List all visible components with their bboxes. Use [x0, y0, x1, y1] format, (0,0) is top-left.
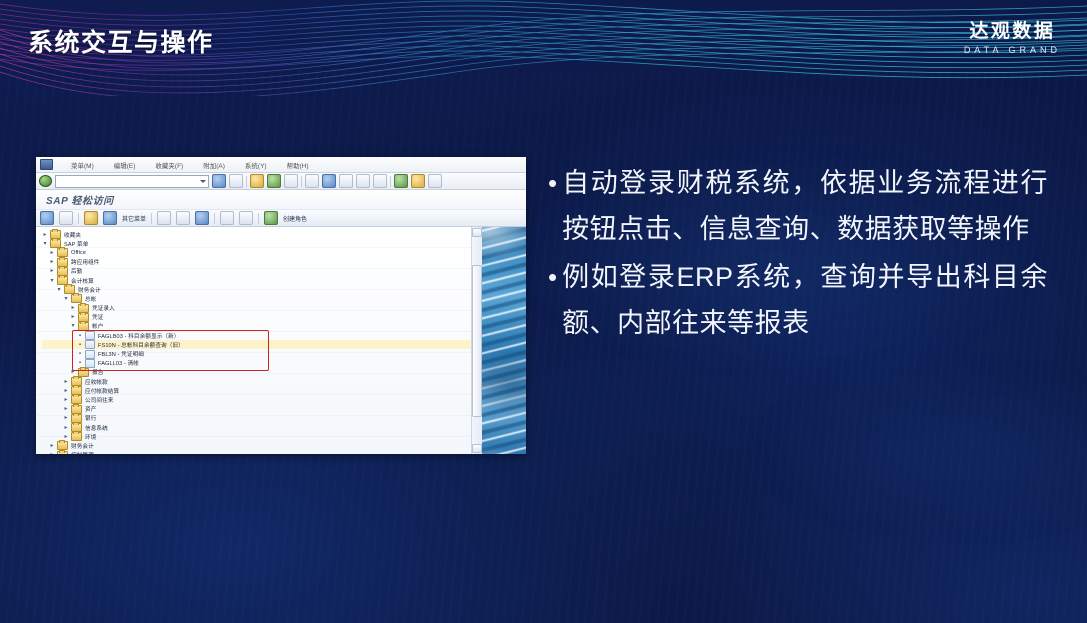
tree-node-label: 财务会计 — [71, 442, 94, 450]
sap-create-role-label[interactable]: 其它菜单 — [122, 214, 146, 223]
logo-english-name: DATA GRAND — [964, 46, 1061, 55]
tree-node-label: 总帐 — [85, 295, 96, 303]
sap-assign-user-icon[interactable] — [157, 211, 171, 225]
apptool-separator — [78, 213, 79, 224]
desktop-wallpaper-strip — [482, 227, 526, 454]
sap-other-menu-icon[interactable] — [264, 211, 278, 225]
sap-cancel-icon[interactable] — [250, 174, 264, 188]
sap-find-icon[interactable] — [305, 174, 319, 188]
expander-closed-icon[interactable]: ▸ — [70, 314, 76, 320]
logo-chinese-name: 达观数据 — [964, 22, 1061, 41]
expander-closed-icon[interactable]: ▸ — [49, 268, 55, 274]
bullet-text: 自动登录财税系统，依据业务流程进行按钮点击、信息查询、数据获取等操作 — [562, 160, 1048, 252]
tree-node-label: 环境 — [85, 433, 96, 441]
apptool-separator-3 — [214, 213, 215, 224]
sap-screenshot-image: 菜单(M) 编辑(E) 收藏夹(F) 附加(A) 系统(Y) 帮助(H) — [36, 157, 526, 454]
toolbar-separator — [246, 176, 247, 187]
tree-node-label: 凭证 — [92, 313, 103, 321]
expander-open-icon[interactable]: ▾ — [49, 278, 55, 284]
sap-menu-item-4[interactable]: 系统(Y) — [235, 160, 277, 170]
sap-favorite-del-icon[interactable] — [59, 211, 73, 225]
tree-node[interactable]: ▸环境 — [42, 432, 471, 441]
tree-node-label: FBL3N - 凭证明细 — [98, 350, 144, 358]
scroll-down-arrow-icon[interactable] — [472, 444, 482, 453]
tree-node[interactable]: ▾SAP 菜单 — [42, 239, 471, 248]
tree-node-label: 控制管理 — [71, 451, 94, 454]
sap-menu-item-0[interactable]: 菜单(M) — [61, 160, 104, 170]
sap-save-icon[interactable] — [267, 174, 281, 188]
tree-node-label: 跨应用组件 — [71, 258, 99, 266]
expander-closed-icon[interactable]: ▸ — [63, 415, 69, 421]
tree-node[interactable]: ▪FAGLB03 - 科目余额显示（新） — [42, 331, 471, 340]
tree-node[interactable]: ▸控制管理 — [42, 451, 471, 455]
sap-nextpage-icon[interactable] — [356, 174, 370, 188]
expander-closed-icon[interactable]: ▸ — [42, 232, 48, 238]
sap-lastpage-icon[interactable] — [373, 174, 387, 188]
bullet-marker-icon: • — [548, 160, 557, 206]
tree-node-label: 后勤 — [71, 267, 82, 275]
sap-menu-item-3[interactable]: 附加(A) — [193, 160, 235, 170]
sap-content-area: ▸收藏夹▾SAP 菜单▸Office▸跨应用组件▸后勤▾会计核算▾财务会计▾总帐… — [36, 227, 526, 454]
expander-closed-icon[interactable]: ▸ — [49, 443, 55, 449]
sap-exit-icon[interactable] — [229, 174, 243, 188]
sap-customize-icon[interactable] — [428, 174, 442, 188]
tree-node[interactable]: ▸资产 — [42, 405, 471, 414]
tree-node[interactable]: ▸报告 — [42, 368, 471, 377]
tree-node-label: FAGLL03 - 清帐 — [98, 359, 139, 367]
tree-node-label: 会计核算 — [71, 277, 94, 285]
transaction-icon — [85, 350, 95, 359]
sap-menu-tree[interactable]: ▸收藏夹▾SAP 菜单▸Office▸跨应用组件▸后勤▾会计核算▾财务会计▾总帐… — [36, 227, 471, 454]
tree-node[interactable]: ▸跨应用组件 — [42, 258, 471, 267]
tree-node-label: 信息系统 — [85, 424, 108, 432]
transaction-icon — [85, 331, 95, 340]
toolbar-separator-2 — [301, 176, 302, 187]
sap-firstpage-icon[interactable] — [322, 174, 336, 188]
tree-node-label: Office — [71, 250, 86, 256]
tree-node[interactable]: ▾财务会计 — [42, 285, 471, 294]
sap-newwindow-icon[interactable] — [394, 174, 408, 188]
sap-print-icon[interactable] — [284, 174, 298, 188]
expander-closed-icon[interactable]: ▸ — [49, 259, 55, 265]
expander-closed-icon[interactable]: ▪ — [77, 351, 83, 357]
page-title: 系统交互与操作 — [28, 23, 214, 59]
expander-closed-icon[interactable]: ▸ — [70, 369, 76, 375]
tree-node[interactable]: ▪FS10N - 总帐科目余额查询（旧） — [42, 340, 471, 349]
expander-closed-icon[interactable]: ▸ — [49, 250, 55, 256]
tree-node-label: 财务会计 — [78, 286, 101, 294]
expander-closed-icon[interactable]: ▸ — [63, 397, 69, 403]
sap-folder-icon[interactable] — [84, 211, 98, 225]
tree-node[interactable]: ▸后勤 — [42, 267, 471, 276]
tree-node[interactable]: ▸财务会计 — [42, 441, 471, 450]
tree-node[interactable]: ▸银行 — [42, 414, 471, 423]
tree-node-label: 帐户 — [92, 322, 103, 330]
folder-icon — [71, 432, 82, 441]
sap-enter-icon[interactable] — [39, 175, 52, 187]
tree-node-label: 收藏夹 — [64, 231, 81, 239]
tree-node-label: 公司间往来 — [85, 396, 113, 404]
sap-edit-icon[interactable] — [195, 211, 209, 225]
tree-node-label: 应付帐款结算 — [85, 387, 119, 395]
expander-closed-icon[interactable]: ▪ — [77, 360, 83, 366]
tree-node-label: 银行 — [85, 414, 96, 422]
tree-node[interactable]: ▾会计核算 — [42, 276, 471, 285]
scroll-up-arrow-icon[interactable] — [472, 228, 482, 237]
tree-node[interactable]: ▸收藏夹 — [42, 230, 471, 239]
sap-command-bar — [36, 173, 526, 190]
tree-node-label: SAP 菜单 — [64, 240, 88, 248]
tree-node-label: 资产 — [85, 405, 96, 413]
scrollbar-thumb[interactable] — [472, 265, 482, 417]
sap-other-menu-label[interactable]: 创建角色 — [283, 214, 307, 223]
sap-menu-bar: 菜单(M) 编辑(E) 收藏夹(F) 附加(A) 系统(Y) 帮助(H) — [36, 157, 526, 173]
tree-node-label: 凭证录入 — [92, 304, 115, 312]
expander-closed-icon[interactable]: ▸ — [63, 425, 69, 431]
expander-closed-icon[interactable]: ▸ — [63, 434, 69, 440]
toolbar-separator-3 — [390, 176, 391, 187]
bullet-marker-icon: • — [548, 254, 557, 300]
sap-expand-icon[interactable] — [239, 211, 253, 225]
tree-node-label: FS10N - 总帐科目余额查询（旧） — [98, 341, 184, 349]
sap-collapse-icon[interactable] — [220, 211, 234, 225]
sap-menu-item-5[interactable]: 帮助(H) — [277, 160, 319, 170]
brand-logo: 达观数据 DATA GRAND — [964, 22, 1061, 55]
vertical-scrollbar[interactable] — [471, 227, 482, 454]
expander-open-icon[interactable]: ▾ — [42, 241, 48, 247]
folder-icon — [78, 322, 89, 331]
sap-create-role-icon[interactable] — [103, 211, 117, 225]
sap-menu-item-2[interactable]: 收藏夹(F) — [145, 160, 193, 170]
tree-node-label: FAGLB03 - 科目余额显示（新） — [98, 332, 179, 340]
expander-closed-icon[interactable]: ▸ — [70, 305, 76, 311]
transaction-icon — [85, 359, 95, 368]
bullet-item: •自动登录财税系统，依据业务流程进行按钮点击、信息查询、数据获取等操作 — [548, 160, 1048, 252]
sap-window-title-bar: SAP 轻松访问 — [36, 190, 526, 210]
expander-closed-icon[interactable]: ▸ — [63, 379, 69, 385]
tree-node[interactable]: ▪FAGLL03 - 清帐 — [42, 359, 471, 368]
tree-node[interactable]: ▸Office — [42, 248, 471, 257]
sap-favorite-add-icon[interactable] — [40, 211, 54, 225]
expander-closed-icon[interactable]: ▪ — [77, 333, 83, 339]
sap-window-title: SAP 轻松访问 — [46, 192, 114, 207]
tree-node[interactable]: ▸凭证 — [42, 313, 471, 322]
expander-open-icon[interactable]: ▾ — [70, 323, 76, 329]
sap-prevpage-icon[interactable] — [339, 174, 353, 188]
tree-node[interactable]: ▸应收帐款 — [42, 377, 471, 386]
tree-node[interactable]: ▸应付帐款结算 — [42, 386, 471, 395]
tree-node[interactable]: ▾总帐 — [42, 294, 471, 303]
tree-node-label: 应收帐款 — [85, 378, 108, 386]
expander-closed-icon[interactable]: ▸ — [49, 452, 55, 454]
tree-node[interactable]: ▾帐户 — [42, 322, 471, 331]
sap-menu-item-1[interactable]: 编辑(E) — [104, 160, 146, 170]
expander-closed-icon[interactable]: ▸ — [63, 406, 69, 412]
sap-window-icon — [40, 159, 53, 170]
sap-application-toolbar: 其它菜单 创建角色 — [36, 210, 526, 227]
tree-node[interactable]: ▸凭证录入 — [42, 304, 471, 313]
slide-background: 系统交互与操作 达观数据 DATA GRAND •自动登录财税系统，依据业务流程… — [0, 0, 1087, 623]
folder-icon — [78, 368, 89, 377]
sap-documentation-icon[interactable] — [176, 211, 190, 225]
bullet-list: •自动登录财税系统，依据业务流程进行按钮点击、信息查询、数据获取等操作•例如登录… — [548, 160, 1048, 348]
sap-back-icon[interactable] — [212, 174, 226, 188]
tree-node[interactable]: ▪FBL3N - 凭证明细 — [42, 349, 471, 358]
expander-closed-icon[interactable]: ▪ — [77, 342, 83, 348]
bullet-text: 例如登录ERP系统，查询并导出科目余额、内部往来等报表 — [562, 254, 1048, 346]
tree-node-label: 报告 — [92, 368, 103, 376]
apptool-separator-4 — [258, 213, 259, 224]
tree-node[interactable]: ▸公司间往来 — [42, 395, 471, 404]
transaction-icon — [85, 340, 95, 349]
sap-help-icon[interactable] — [411, 174, 425, 188]
tree-node[interactable]: ▸信息系统 — [42, 423, 471, 432]
bullet-item: •例如登录ERP系统，查询并导出科目余额、内部往来等报表 — [548, 254, 1048, 346]
sap-command-input[interactable] — [55, 175, 209, 188]
expander-open-icon[interactable]: ▾ — [56, 287, 62, 293]
folder-icon — [57, 451, 68, 454]
chevron-down-icon[interactable] — [200, 180, 206, 183]
apptool-separator-2 — [151, 213, 152, 224]
expander-closed-icon[interactable]: ▸ — [63, 388, 69, 394]
expander-open-icon[interactable]: ▾ — [63, 296, 69, 302]
